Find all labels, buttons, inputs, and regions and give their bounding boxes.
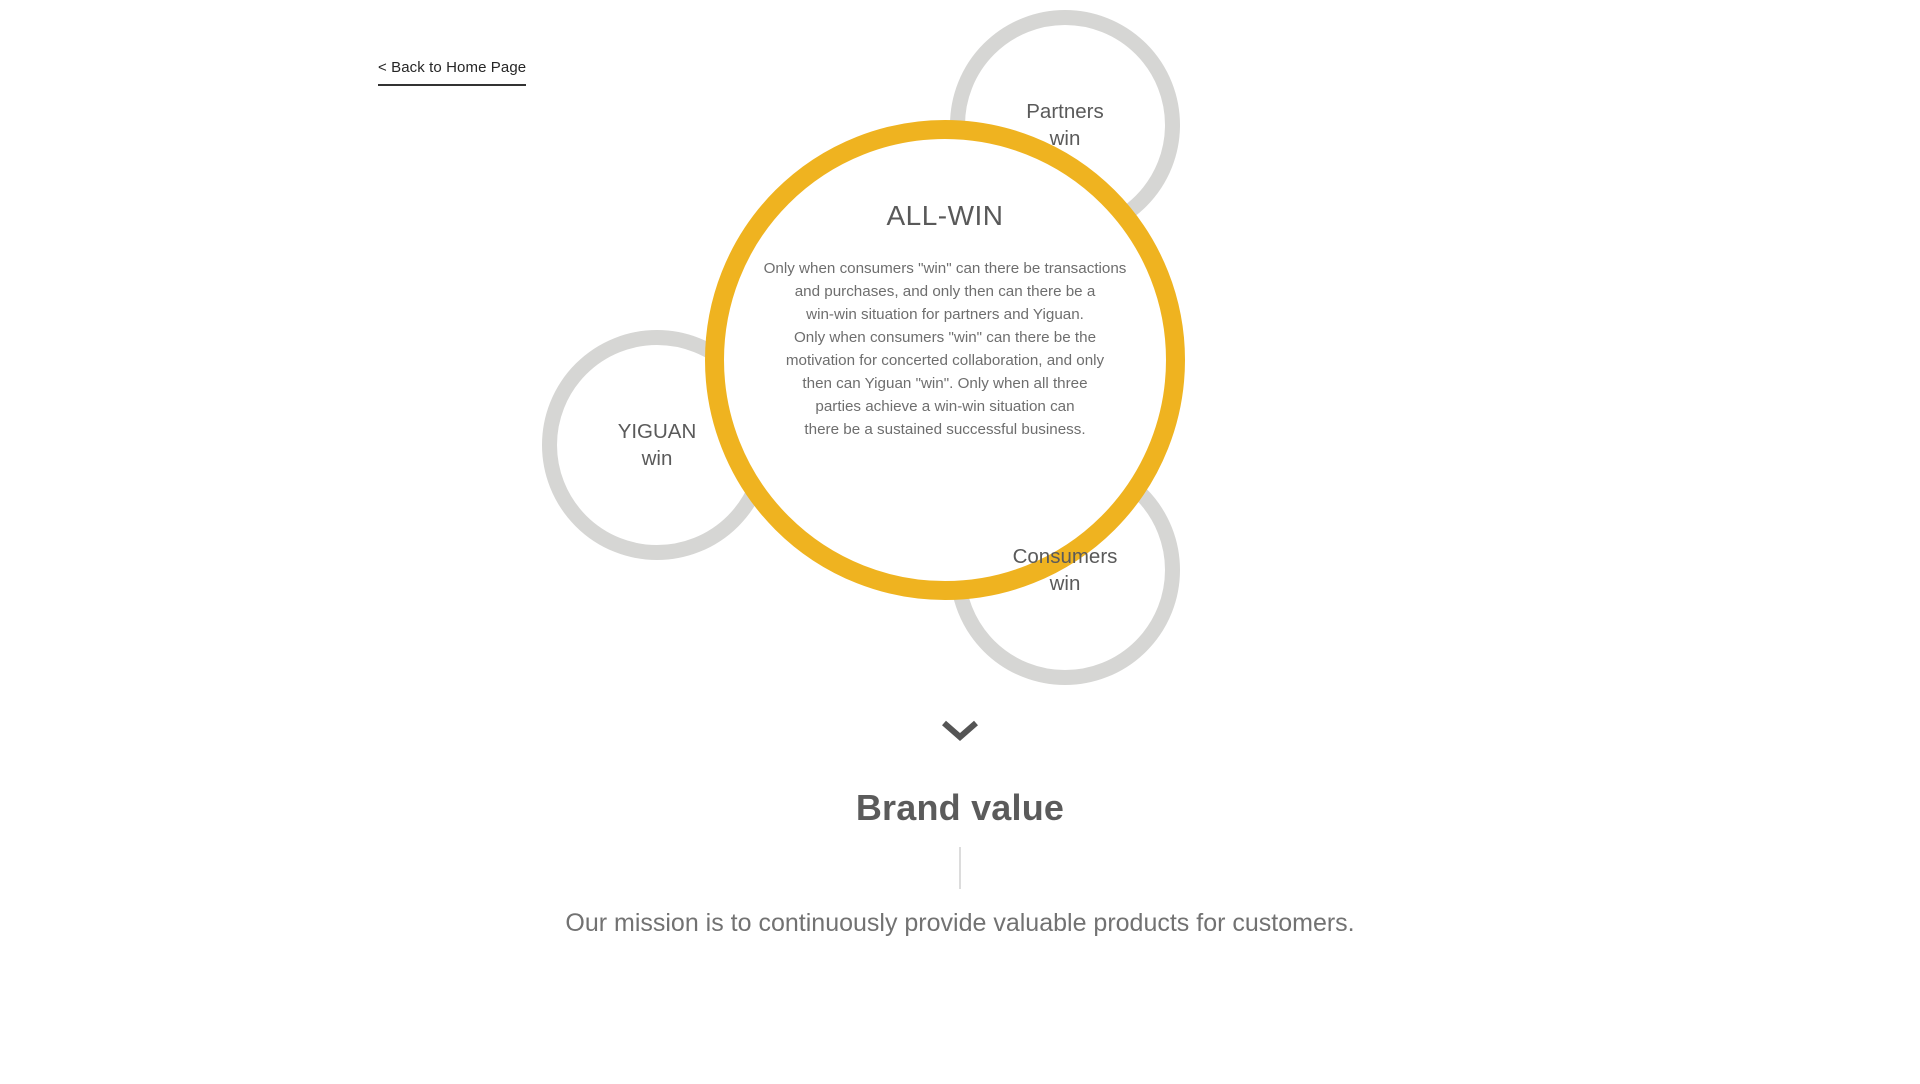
center-circle-content: ALL-WIN Only when consumers "win" can th…: [705, 120, 1185, 600]
heading-divider: [960, 847, 961, 889]
page-root: < Back to Home Page Partners win YIGUAN …: [0, 0, 1920, 1084]
center-title: ALL-WIN: [886, 202, 1003, 230]
brand-value-heading: Brand value: [0, 790, 1920, 826]
all-win-diagram: Partners win YIGUAN win Consumers win AL…: [530, 0, 1360, 690]
brand-value-tagline: Our mission is to continuously provide v…: [0, 908, 1920, 938]
center-body-text: Only when consumers "win" can there be t…: [735, 258, 1155, 442]
chevron-down-icon: [940, 718, 980, 742]
back-to-home-link[interactable]: < Back to Home Page: [378, 60, 526, 86]
